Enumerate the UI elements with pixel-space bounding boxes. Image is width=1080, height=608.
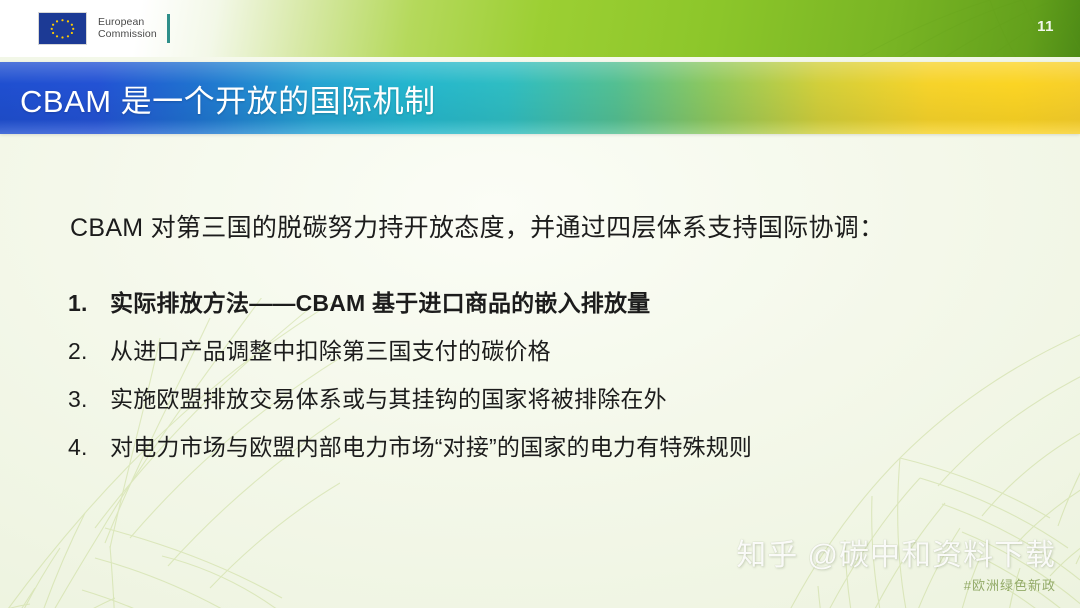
list-item: 4. 对电力市场与欧盟内部电力市场“对接”的国家的电力有特殊规则 xyxy=(68,428,998,462)
list-item-number: 3. xyxy=(68,386,110,413)
list-item-text: 对电力市场与欧盟内部电力市场“对接”的国家的电力有特殊规则 xyxy=(110,428,752,462)
slide-header: European Commission 11 xyxy=(0,0,1080,57)
eu-flag-icon xyxy=(38,12,87,45)
list-item: 1. 实际排放方法——CBAM 基于进口商品的嵌入排放量 xyxy=(68,284,998,318)
eu-stars-icon xyxy=(39,13,86,45)
header-leaf-texture xyxy=(660,0,1080,57)
slide-content: CBAM 对第三国的脱碳努力持开放态度，并通过四层体系支持国际协调： 1. 实际… xyxy=(0,134,1080,608)
list-item-number: 1. xyxy=(68,290,110,317)
list-item-text: 实施欧盟排放交易体系或与其挂钩的国家将被排除在外 xyxy=(110,380,667,414)
list-item-number: 2. xyxy=(68,338,110,365)
eu-commission-name: European Commission xyxy=(98,16,157,41)
logo-accent-bar xyxy=(167,14,170,43)
list-item-text: 实际排放方法——CBAM 基于进口商品的嵌入排放量 xyxy=(110,284,650,318)
list-item: 3. 实施欧盟排放交易体系或与其挂钩的国家将被排除在外 xyxy=(68,380,998,414)
page-number: 11 xyxy=(1037,18,1054,35)
presentation-slide: European Commission 11 CBAM 是一个开放的国际机制 C… xyxy=(0,0,1080,608)
numbered-list: 1. 实际排放方法——CBAM 基于进口商品的嵌入排放量 2. 从进口产品调整中… xyxy=(68,284,998,476)
title-band: CBAM 是一个开放的国际机制 xyxy=(0,62,1080,134)
list-item: 2. 从进口产品调整中扣除第三国支付的碳价格 xyxy=(68,332,998,366)
list-item-number: 4. xyxy=(68,434,110,461)
eu-name-line-2: Commission xyxy=(98,28,157,41)
lead-paragraph: CBAM 对第三国的脱碳努力持开放态度，并通过四层体系支持国际协调： xyxy=(70,208,884,244)
slide-title: CBAM 是一个开放的国际机制 xyxy=(20,62,436,134)
eu-commission-logo: European Commission xyxy=(38,7,170,49)
list-item-text: 从进口产品调整中扣除第三国支付的碳价格 xyxy=(110,332,551,366)
eu-name-line-1: European xyxy=(98,16,157,29)
